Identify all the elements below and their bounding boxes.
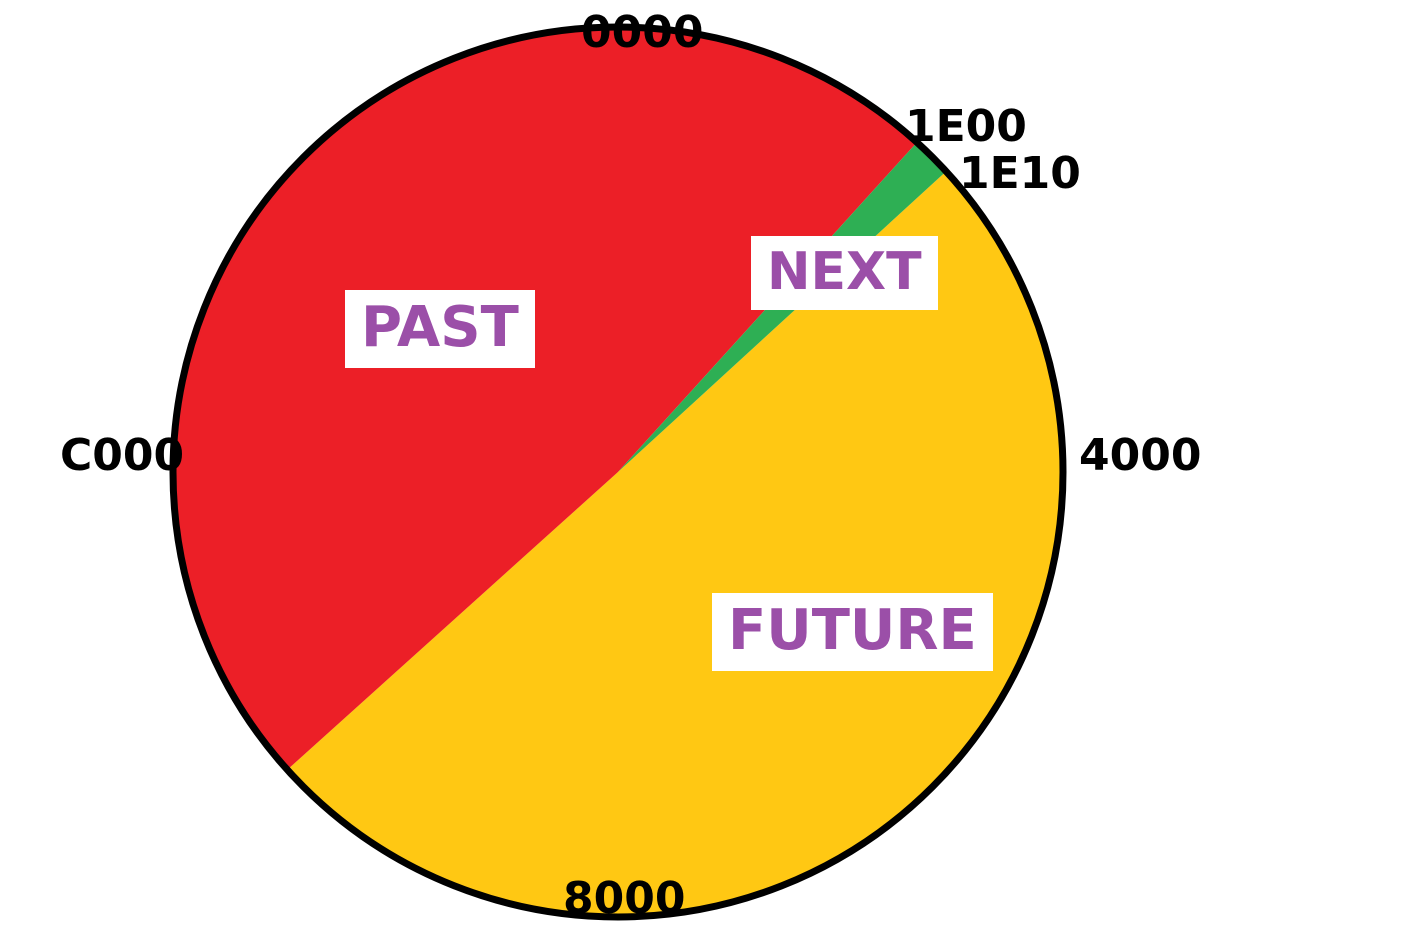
tick-label-1E10: 1E10 bbox=[959, 152, 1081, 196]
tick-label-4000: 4000 bbox=[1079, 434, 1201, 478]
tick-label-8000: 8000 bbox=[563, 877, 685, 921]
sector-label-next: NEXT bbox=[751, 236, 938, 310]
tick-label-1E00: 1E00 bbox=[905, 105, 1027, 149]
sector-label-past: PAST bbox=[345, 290, 535, 368]
sector-label-future: FUTURE bbox=[712, 593, 993, 671]
diagram-canvas: 0000 1E00 1E10 4000 8000 C000 PAST NEXT … bbox=[0, 0, 1404, 949]
tick-label-C000: C000 bbox=[60, 434, 184, 478]
tick-label-0000: 0000 bbox=[581, 11, 703, 55]
